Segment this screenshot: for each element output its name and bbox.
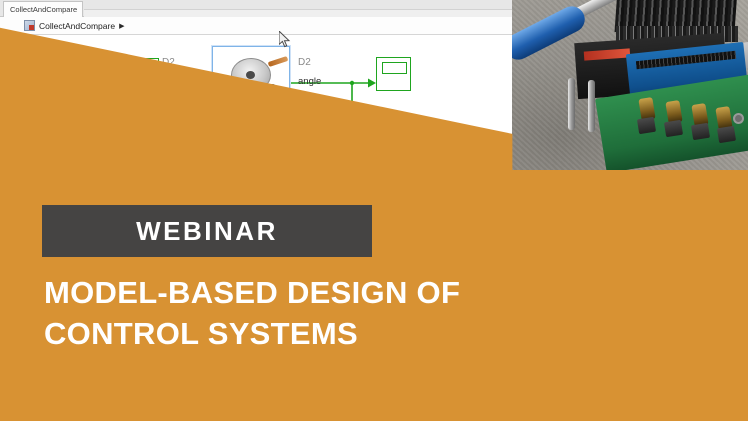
block-scope[interactable] (376, 57, 411, 91)
page-title-line-2: CONTROL SYSTEMS (44, 313, 604, 354)
tab-strip: CollectAndCompare (0, 0, 512, 17)
signal-name-angle: angle (298, 76, 321, 87)
signal-bus-label-2: D2 (298, 57, 311, 68)
switch (717, 126, 736, 143)
chevron-right-icon[interactable]: ▶ (119, 22, 124, 30)
page-title: MODEL-BASED DESIGN OF CONTROL SYSTEMS (44, 272, 604, 354)
scope-icon (382, 62, 407, 74)
tab-strip-filler (84, 9, 512, 17)
servo-motor-photo (219, 56, 285, 118)
breadcrumb: CollectAndCompare ▶ (0, 17, 512, 35)
signal-bus-label-1: D2 (162, 57, 175, 68)
mouse-pointer (279, 31, 291, 49)
settings-sliders-icon[interactable] (0, 101, 22, 123)
block-voltage[interactable]: Voltage (51, 58, 159, 107)
zoom-icon[interactable] (0, 57, 22, 79)
simulink-model-icon (24, 20, 35, 31)
simulink-window: CollectAndCompare CollectAndCompare ▶ (0, 0, 512, 190)
signal-name-voltage: voltage (160, 75, 191, 86)
block-out1-caption: Out1 (379, 144, 400, 155)
switch (664, 120, 683, 137)
switch (637, 117, 656, 134)
screenshot-root: CollectAndCompare CollectAndCompare ▶ (0, 0, 748, 421)
block-voltage-label: Voltage (100, 74, 135, 86)
standoff-post (568, 78, 575, 130)
page-title-line-1: MODEL-BASED DESIGN OF (44, 272, 604, 313)
canvas-toolbar (0, 35, 22, 190)
download-logged-data-button[interactable]: Download Logged Data to WS (26, 173, 184, 190)
plot-vs-measured-data-button[interactable]: Plot vs Measured Data (218, 173, 342, 190)
block-voltage-caption: Send Button (80, 112, 132, 123)
block-servo-motor-image[interactable] (212, 46, 290, 126)
tab-collectandcompare[interactable]: CollectAndCompare (3, 1, 83, 17)
simulink-canvas[interactable]: Voltage Send Button 1 Out1 (22, 35, 512, 190)
fit-to-view-icon[interactable] (0, 79, 22, 101)
signal-builder-icon (61, 70, 93, 96)
webinar-label: WEBINAR (136, 216, 278, 247)
navigate-up-icon[interactable] (0, 35, 22, 57)
hardware-photo (512, 0, 748, 170)
switch (691, 123, 710, 140)
block-out1[interactable]: 1 (374, 125, 414, 142)
standoff-post (588, 80, 595, 132)
breadcrumb-label[interactable]: CollectAndCompare (39, 21, 115, 31)
webinar-badge: WEBINAR (42, 205, 372, 257)
